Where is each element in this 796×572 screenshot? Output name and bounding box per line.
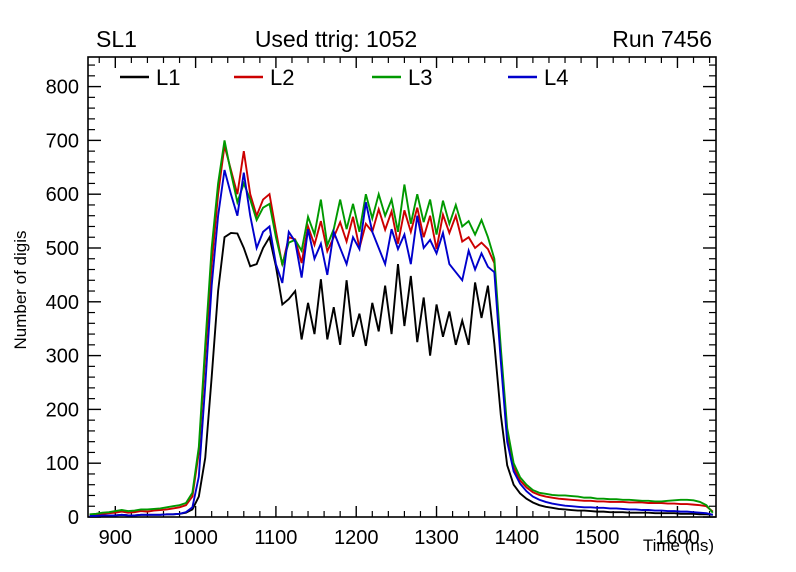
plot-canvas: SL1 Used ttrig: 1052 Run 7456 Number of … <box>0 0 796 572</box>
y-tick-label: 400 <box>46 292 79 314</box>
x-tick-label: 1200 <box>334 527 379 549</box>
root-plot-svg: SL1 Used ttrig: 1052 Run 7456 Number of … <box>0 0 796 572</box>
y-tick-label: 700 <box>46 130 79 152</box>
y-tick-label: 600 <box>46 184 79 206</box>
y-tick-label: 200 <box>46 399 79 421</box>
legend-label-L3: L3 <box>408 65 432 90</box>
legend-label-L1: L1 <box>156 65 180 90</box>
y-tick-label: 0 <box>68 507 79 529</box>
x-tick-label: 1100 <box>254 527 297 549</box>
x-tick-label: 1300 <box>414 527 459 549</box>
x-tick-label: 1400 <box>495 527 540 549</box>
canvas-background <box>0 0 796 572</box>
header-left-label: SL1 <box>96 26 137 52</box>
header-center-label: Used ttrig: 1052 <box>255 26 417 52</box>
header-right-label: Run 7456 <box>612 26 712 52</box>
y-tick-label: 300 <box>46 346 79 368</box>
y-tick-label: 500 <box>46 238 79 260</box>
y-axis-title: Number of digis <box>11 230 30 349</box>
x-tick-label: 1600 <box>655 527 700 549</box>
legend-label-L4: L4 <box>544 65 568 90</box>
y-tick-label: 100 <box>46 453 79 475</box>
y-tick-label: 800 <box>46 77 79 99</box>
x-tick-label: 1000 <box>173 527 218 549</box>
x-tick-label: 1500 <box>575 527 620 549</box>
x-tick-label: 900 <box>99 527 132 549</box>
legend-label-L2: L2 <box>270 65 294 90</box>
